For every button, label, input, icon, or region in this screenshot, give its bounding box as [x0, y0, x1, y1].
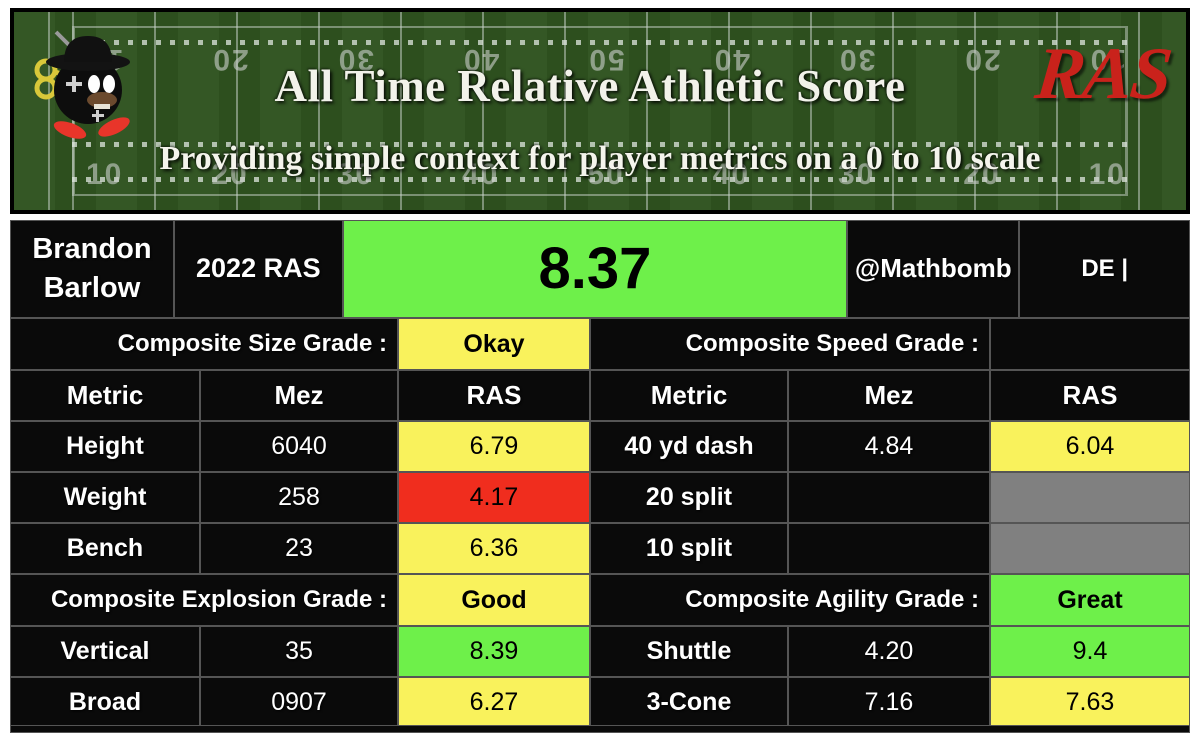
composite-explosion-agility-row: Composite Explosion Grade : Good Composi…	[10, 574, 1190, 626]
metric-name: 20 split	[590, 472, 788, 523]
metric-measurement	[788, 472, 990, 523]
football-field-background: 10 20 30 40 50 40 30 20 10 10 20 30 40 5…	[14, 12, 1186, 210]
year-ras-label: 2022 RAS	[174, 220, 343, 318]
overall-ras-score: 8.37	[343, 220, 847, 318]
metric-name: 3-Cone	[590, 677, 788, 728]
metric-name: 40 yd dash	[590, 421, 788, 472]
player-position: DE |	[1019, 220, 1190, 318]
column-header-metric-right: Metric	[590, 370, 788, 421]
metric-name: 10 split	[590, 523, 788, 574]
column-header-mez-right: Mez	[788, 370, 990, 421]
composite-explosion-grade-label: Composite Explosion Grade :	[10, 574, 398, 626]
metric-name: Broad	[10, 677, 200, 728]
column-header-ras-right: RAS	[990, 370, 1190, 421]
column-header-mez-left: Mez	[200, 370, 398, 421]
column-header-ras-left: RAS	[398, 370, 590, 421]
metric-name: Height	[10, 421, 200, 472]
metric-measurement: 6040	[200, 421, 398, 472]
composite-agility-grade-label: Composite Agility Grade :	[590, 574, 990, 626]
table-row: Broad 0907 6.27 3-Cone 7.16 7.63	[10, 677, 1190, 728]
metric-ras-score: 6.04	[990, 421, 1190, 472]
column-header-metric-left: Metric	[10, 370, 200, 421]
metric-name: Bench	[10, 523, 200, 574]
metric-measurement: 258	[200, 472, 398, 523]
player-name-line2: Barlow	[44, 272, 141, 304]
metric-ras-score: 7.63	[990, 677, 1190, 728]
player-name-line1: Brandon	[32, 233, 151, 265]
metric-measurement: 35	[200, 626, 398, 677]
table-bottom-edge	[10, 725, 1190, 733]
table-row: Height 6040 6.79 40 yd dash 4.84 6.04	[10, 421, 1190, 472]
metric-name: Weight	[10, 472, 200, 523]
page-title: All Time Relative Athletic Score	[14, 60, 1186, 112]
table-row: Bench 23 6.36 10 split	[10, 523, 1190, 574]
metric-measurement: 7.16	[788, 677, 990, 728]
table-row: Vertical 35 8.39 Shuttle 4.20 9.4	[10, 626, 1190, 677]
page-subtitle: Providing simple context for player metr…	[14, 140, 1186, 178]
ras-card: 10 20 30 40 50 40 30 20 10 10 20 30 40 5…	[0, 0, 1200, 733]
table-row: Weight 258 4.17 20 split	[10, 472, 1190, 523]
composite-speed-grade-label: Composite Speed Grade :	[590, 318, 990, 370]
author-handle: @Mathbomb	[847, 220, 1019, 318]
metric-ras-score: 9.4	[990, 626, 1190, 677]
column-header-row: Metric Mez RAS Metric Mez RAS	[10, 370, 1190, 421]
metric-measurement: 4.20	[788, 626, 990, 677]
metric-measurement: 0907	[200, 677, 398, 728]
composite-size-speed-row: Composite Size Grade : Okay Composite Sp…	[10, 318, 1190, 370]
composite-speed-grade-value	[990, 318, 1190, 370]
header-banner: 10 20 30 40 50 40 30 20 10 10 20 30 40 5…	[10, 8, 1190, 214]
metric-name: Vertical	[10, 626, 200, 677]
metric-ras-score	[990, 523, 1190, 574]
metric-ras-score: 6.36	[398, 523, 590, 574]
metric-measurement: 23	[200, 523, 398, 574]
composite-agility-grade-value: Great	[990, 574, 1190, 626]
metric-measurement: 4.84	[788, 421, 990, 472]
ras-brand-logo: RAS	[1032, 32, 1175, 117]
composite-size-grade-value: Okay	[398, 318, 590, 370]
metric-ras-score: 8.39	[398, 626, 590, 677]
composite-explosion-grade-value: Good	[398, 574, 590, 626]
composite-size-grade-label: Composite Size Grade :	[10, 318, 398, 370]
player-name: Brandon Barlow	[10, 220, 174, 318]
player-header-row: Brandon Barlow 2022 RAS 8.37 @Mathbomb D…	[10, 220, 1190, 318]
metric-name: Shuttle	[590, 626, 788, 677]
metric-ras-score: 6.27	[398, 677, 590, 728]
metric-ras-score: 6.79	[398, 421, 590, 472]
metric-ras-score	[990, 472, 1190, 523]
metric-ras-score: 4.17	[398, 472, 590, 523]
metric-measurement	[788, 523, 990, 574]
ras-table: Brandon Barlow 2022 RAS 8.37 @Mathbomb D…	[10, 220, 1190, 728]
